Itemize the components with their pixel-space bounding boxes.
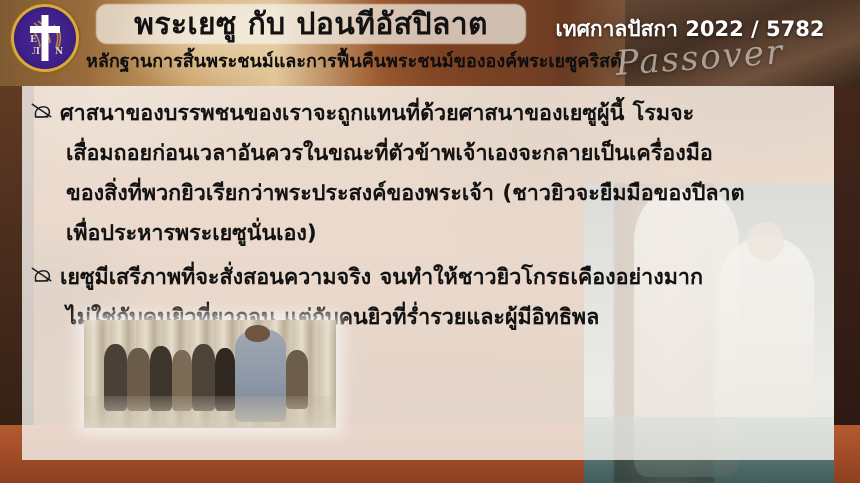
svg-text:E: E [30,35,37,45]
bullet-line: เสื่อมถอยก่อนเวลาอันควรในขณะที่ตัวข้าพเจ… [60,134,820,174]
quill-pen-icon [30,101,60,120]
bullet-line: เพื่อประหารพระเยซูนั่นเอง) [60,214,820,254]
list-item: ศาสนาของบรรพชนของเราจะถูกแทนที่ด้วยศาสนา… [30,94,820,254]
quill-pen-icon [30,265,60,284]
jesus-teaching-crowd-photo [84,320,336,428]
presentation-slide: E Л N พระเยซู กับ ปอนทีอัสปิลาต หลักฐานก… [0,0,860,483]
bullet-line: ของสิ่งที่พวกยิวเรียกว่าพระประสงค์ของพระ… [60,174,820,214]
content-panel: ศาสนาของบรรพชนของเราจะถูกแทนที่ด้วยศาสนา… [22,86,834,460]
bullet-line: ศาสนาของบรรพชนของเราจะถูกแทนที่ด้วยศาสนา… [60,94,820,134]
svg-text:Л: Л [32,47,40,57]
bullet-line: เยซูมีเสรีภาพที่จะสั่งสอนความจริง จนทำให… [60,258,820,298]
page-subtitle: หลักฐานการสิ้นพระชนม์และการฟื้นคืนพระชนม… [86,46,536,75]
church-cross-lion-emblem-icon: E Л N [14,7,76,69]
bullet-list: ศาสนาของบรรพชนของเราจะถูกแทนที่ด้วยศาสนา… [22,86,834,342]
svg-text:N: N [55,47,63,57]
page-title: พระเยซู กับ ปอนทีอัสปิลาต [96,4,526,44]
list-item-text: ศาสนาของบรรพชนของเราจะถูกแทนที่ด้วยศาสนา… [60,94,820,254]
slide-header: E Л N พระเยซู กับ ปอนทีอัสปิลาต หลักฐานก… [0,0,860,86]
